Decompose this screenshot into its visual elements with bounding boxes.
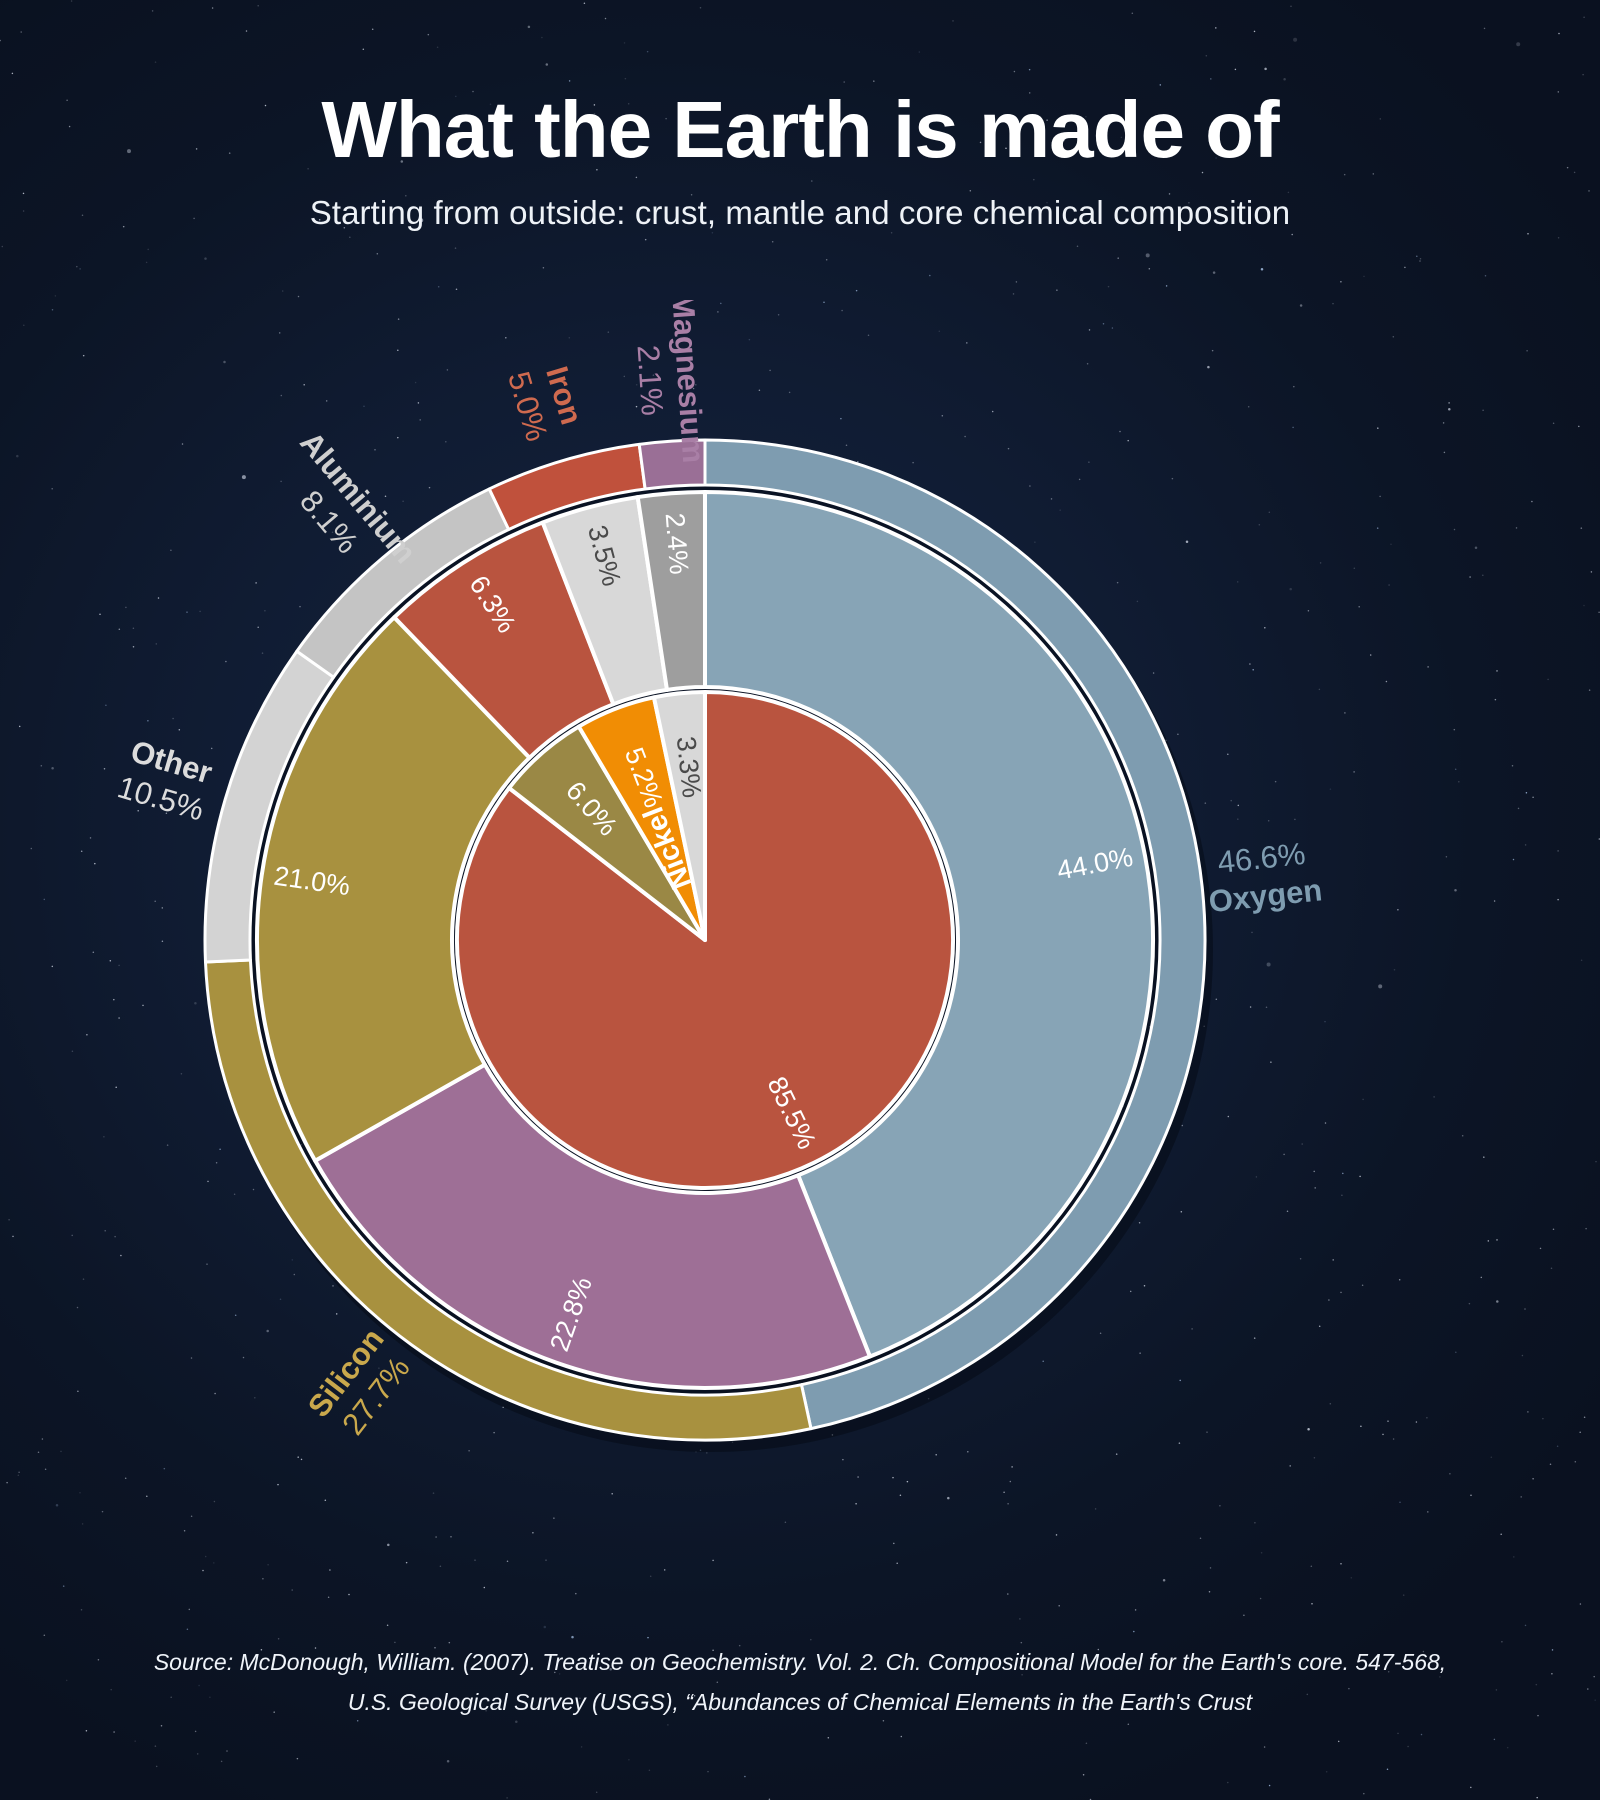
header: What the Earth is made of Starting from … — [0, 0, 1600, 232]
value-label-core-sulfur: 3.3% — [671, 735, 707, 799]
source-line-1: Source: McDonough, William. (2007). Trea… — [0, 1642, 1600, 1682]
sunburst-svg: 46.6%Oxygen27.7%Silicon10.5%Other8.1%Alu… — [0, 300, 1600, 1570]
value-label-mantle-magnesium: 2.4% — [660, 512, 695, 576]
outer-label-pct: 2.1% — [630, 344, 670, 417]
outer-label-iron: 5.0%Iron — [501, 357, 591, 446]
source-footer: Source: McDonough, William. (2007). Trea… — [0, 1642, 1600, 1723]
outer-label-name: Magnesium — [665, 300, 711, 464]
page-subtitle: Starting from outside: crust, mantle and… — [0, 172, 1600, 232]
outer-label-pct: 46.6% — [1216, 836, 1307, 880]
outer-label-oxygen: 46.6%Oxygen — [1203, 834, 1324, 919]
source-line-2: U.S. Geological Survey (USGS), “Abundanc… — [0, 1682, 1600, 1722]
sunburst-chart: 46.6%Oxygen27.7%Silicon10.5%Other8.1%Alu… — [0, 300, 1600, 1570]
ring-core — [457, 692, 953, 1188]
outer-label-other: 10.5%Other — [114, 733, 219, 828]
page-title: What the Earth is made of — [0, 0, 1600, 172]
